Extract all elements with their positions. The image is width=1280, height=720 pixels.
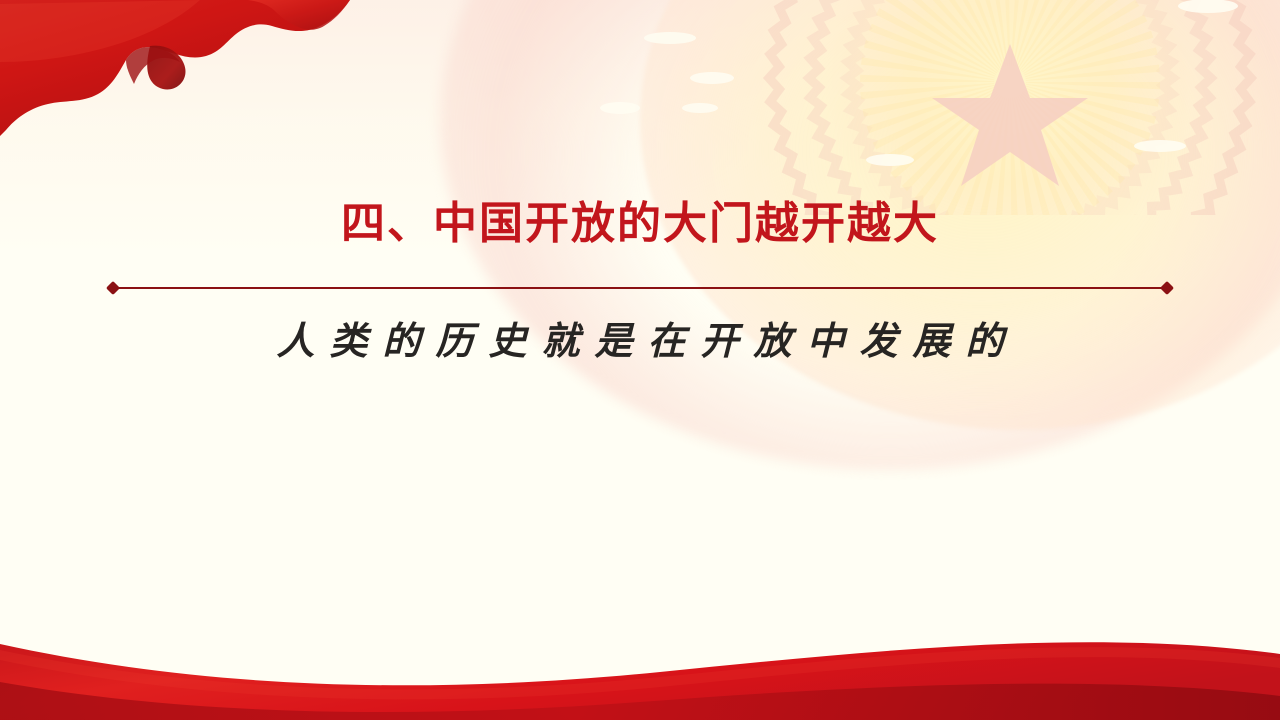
divider-rule: [114, 287, 1166, 289]
emblem-ring-outer: [769, 0, 1251, 319]
slide-canvas: 四、中国开放的大门越开越大 人类的历史就是在开放中发展的: [0, 0, 1280, 720]
red-silk-ribbon-decoration: [0, 0, 420, 200]
page-subtitle: 人类的历史就是在开放中发展的: [0, 310, 1280, 365]
title-block: 四、中国开放的大门越开越大: [0, 196, 1280, 251]
section-divider: [108, 282, 1172, 294]
bottom-red-wave-decoration: [0, 610, 1280, 720]
divider-right-diamond-icon: [1160, 281, 1174, 295]
five-pointed-star-icon: [932, 44, 1088, 186]
page-title: 四、中国开放的大门越开越大: [0, 196, 1280, 251]
emblem-highlights: [600, 0, 1238, 166]
